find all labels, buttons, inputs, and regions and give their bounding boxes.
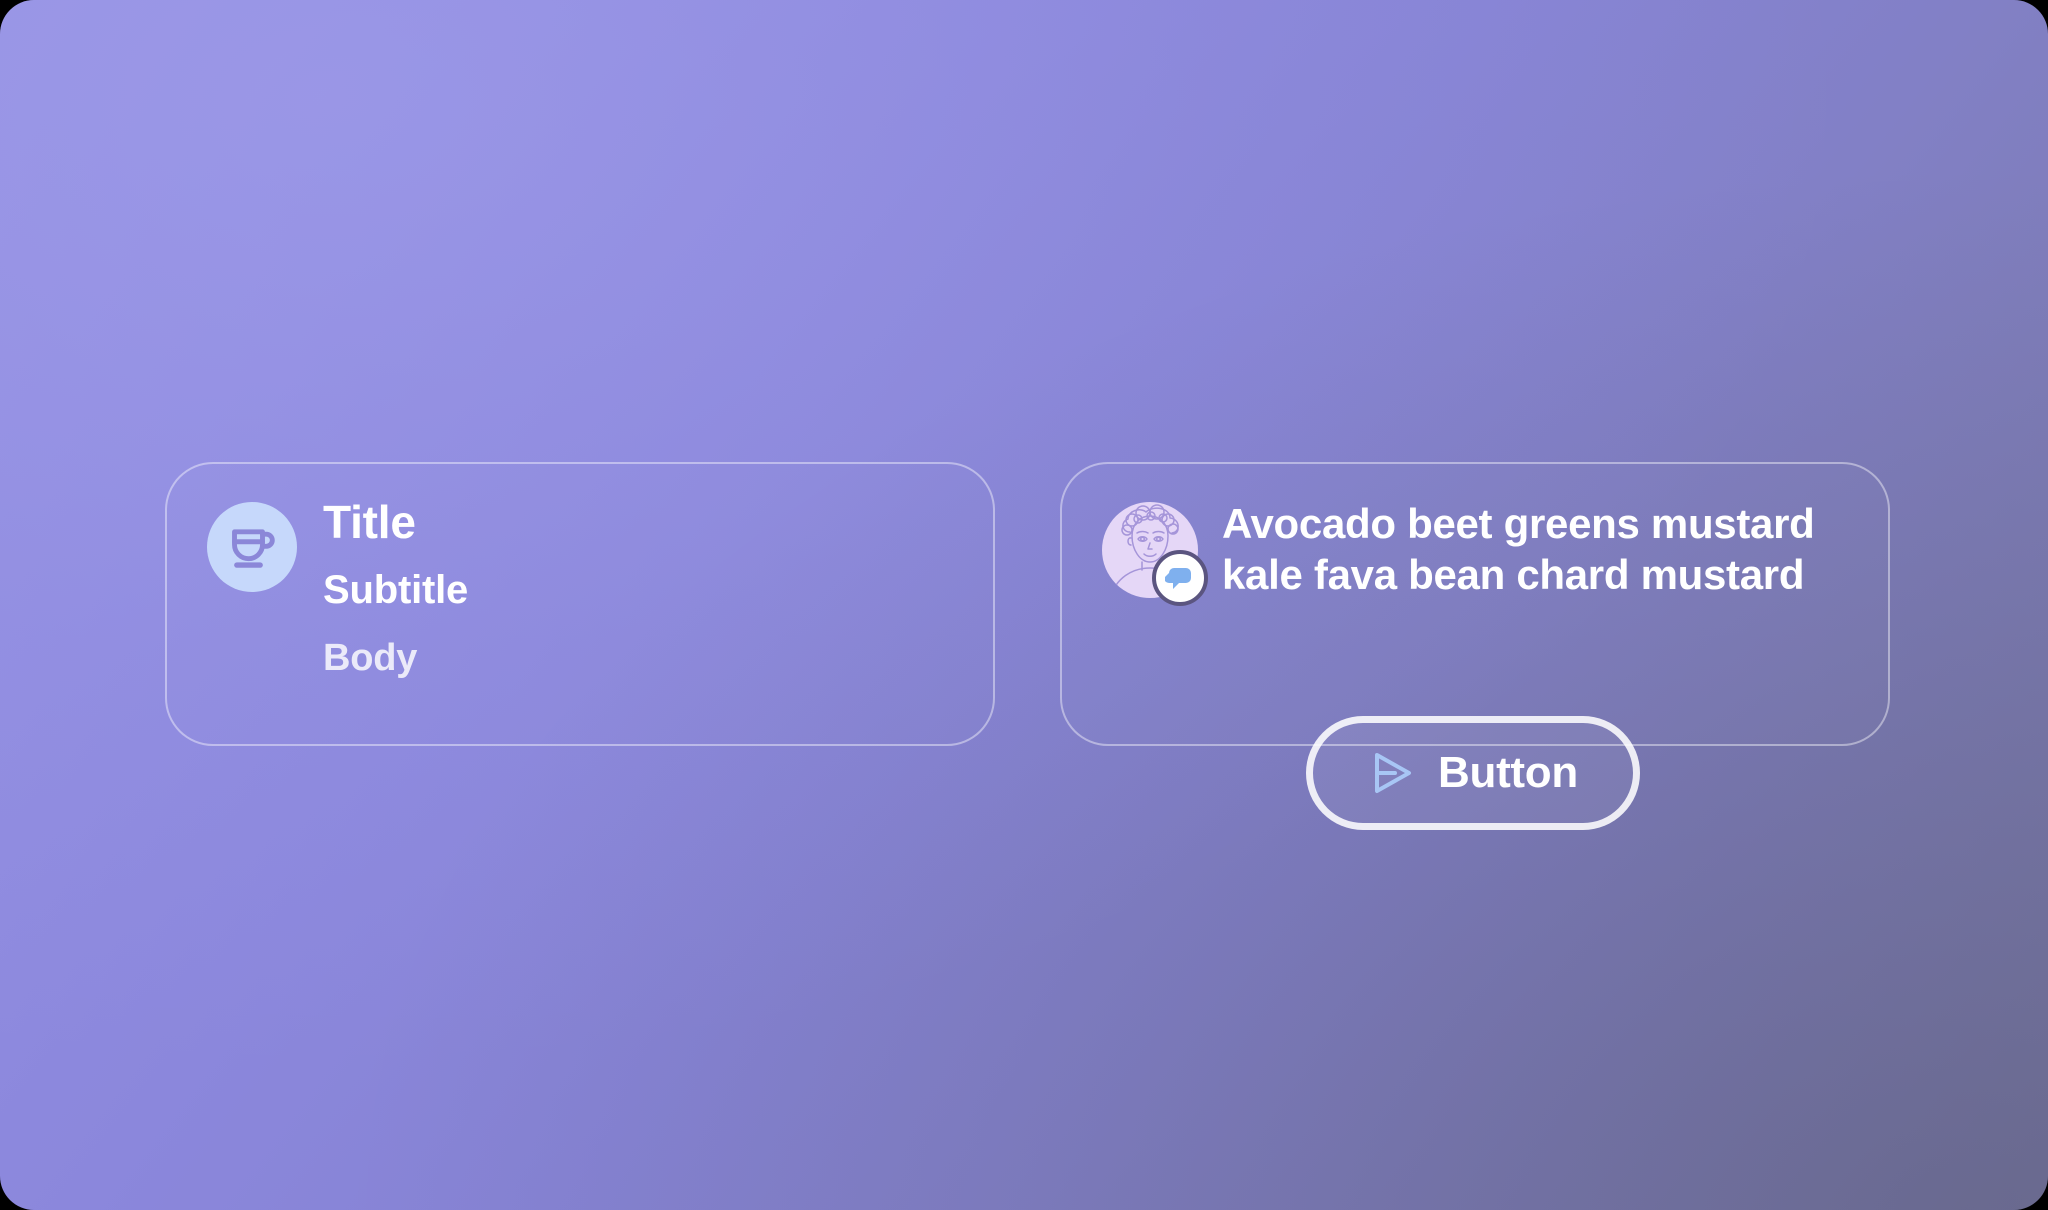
card-body: Body (323, 638, 468, 680)
send-button-label: Button (1438, 751, 1578, 795)
message-card[interactable]: Avocado beet greens mustard kale fava be… (1060, 462, 1890, 746)
send-button[interactable]: Button (1306, 716, 1640, 830)
card-container: Title Subtitle Body (0, 0, 2048, 1210)
coffee-cup-icon (224, 519, 280, 575)
send-icon (1368, 749, 1416, 797)
info-card[interactable]: Title Subtitle Body (165, 462, 995, 746)
avatar (1102, 502, 1198, 598)
coffee-icon-badge (207, 502, 297, 592)
message-text: Avocado beet greens mustard kale fava be… (1222, 498, 1842, 600)
card-subtitle: Subtitle (323, 568, 468, 612)
card-title: Title (323, 498, 468, 548)
info-card-text-column: Title Subtitle Body (323, 498, 468, 679)
chat-bubble-icon (1165, 563, 1195, 593)
chat-bubble-badge (1152, 550, 1208, 606)
screen-root: Title Subtitle Body (0, 0, 2048, 1210)
